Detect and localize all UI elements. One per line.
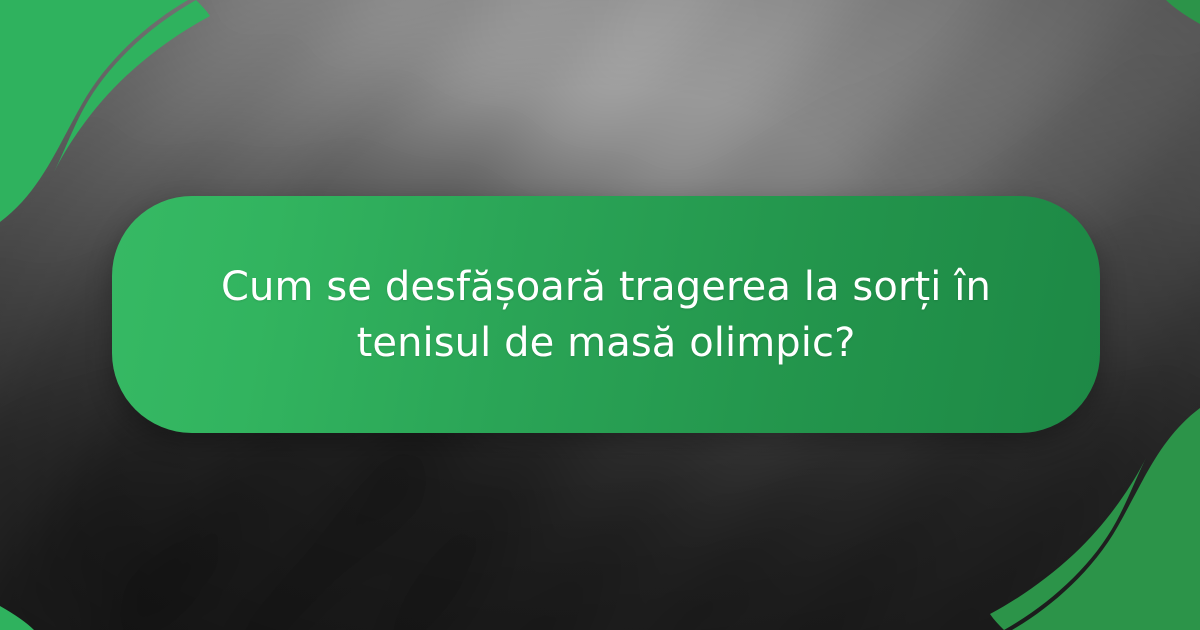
bottom-left-green-tip xyxy=(0,606,34,630)
page-title: Cum se desfășoară tragerea la sorți în t… xyxy=(211,259,1001,371)
top-right-green-tip xyxy=(1166,0,1200,24)
headline-card: Cum se desfășoară tragerea la sorți în t… xyxy=(112,196,1100,433)
og-card-canvas: Cum se desfășoară tragerea la sorți în t… xyxy=(0,0,1200,630)
